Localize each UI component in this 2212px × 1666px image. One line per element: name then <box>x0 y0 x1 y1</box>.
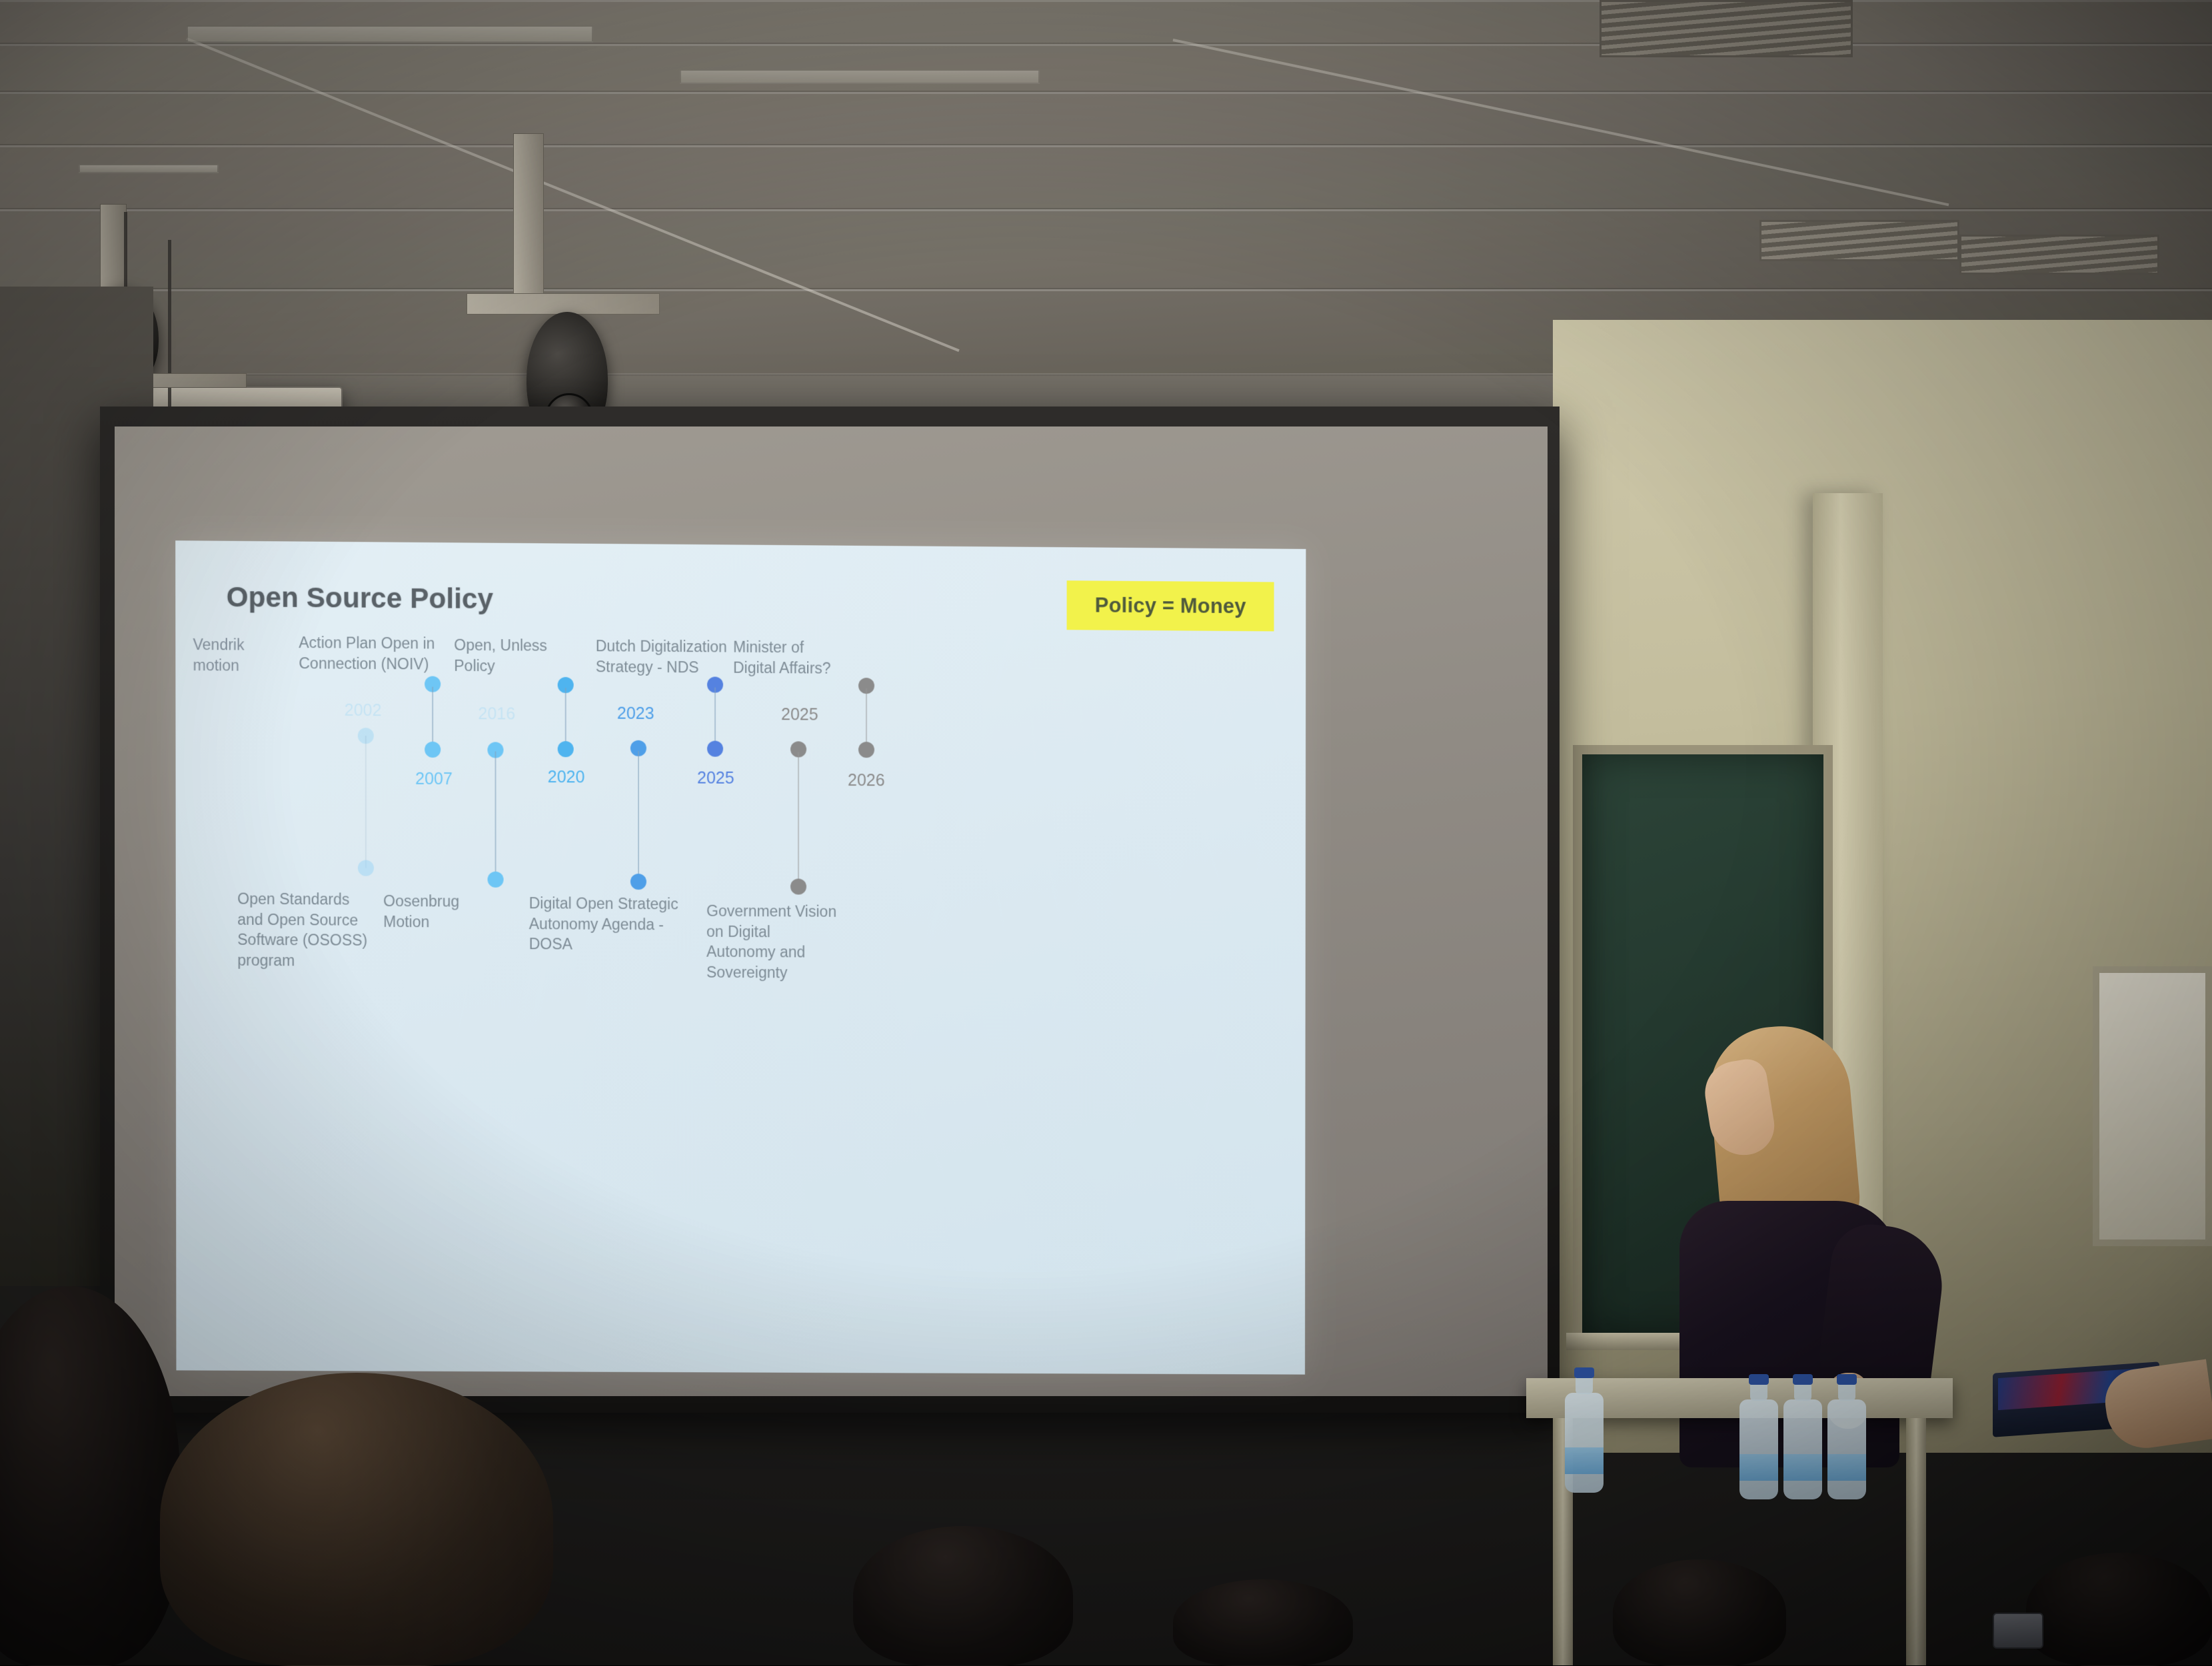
timeline-event: 2025 Government Vision on Digital Autono… <box>175 540 176 1370</box>
timeline-dot-bottom <box>707 741 723 757</box>
water-bottle <box>1739 1399 1778 1499</box>
timeline-dot-bottom <box>488 872 504 888</box>
timeline-year: 2025 <box>697 768 734 788</box>
whiteboard-far <box>2093 966 2212 1246</box>
timeline-dot-bottom <box>558 741 574 757</box>
timeline-dot-bottom <box>630 874 646 890</box>
timeline-label-above: Action Plan Open in Connection (NOIV) <box>299 632 466 674</box>
water-bottle <box>1783 1399 1822 1499</box>
lecture-room-photo: Open Source Policy Policy = Money Vendri… <box>0 0 2212 1665</box>
audience-head <box>853 1526 1073 1666</box>
timeline-stem <box>432 687 433 748</box>
water-bottle <box>1565 1393 1604 1493</box>
timeline-stem <box>365 736 367 868</box>
water-bottle <box>1827 1399 1866 1499</box>
timeline-year: 2023 <box>617 704 654 724</box>
timeline-dot-bottom <box>425 742 441 758</box>
timeline-dot-bottom <box>790 878 806 894</box>
timeline-event: Action Plan Open in Connection (NOIV) 20… <box>175 540 176 1370</box>
timeline-label-below: Open Standards and Open Source Software … <box>237 889 391 972</box>
policy-timeline: Vendrik motion 2002 Open Standards and O… <box>175 540 1306 1374</box>
timeline-year: 2026 <box>848 771 885 790</box>
bottle-label <box>1565 1447 1604 1474</box>
timeline-label-below: Digital Open Strategic Autonomy Agenda -… <box>529 893 696 955</box>
audience-head <box>160 1373 553 1666</box>
ceiling <box>0 0 2212 373</box>
timeline-stem <box>495 751 496 878</box>
timeline-event: Dutch Digitalization Strategy - NDS 2025 <box>175 540 176 1370</box>
timeline-year: 2002 <box>345 701 382 720</box>
timeline-year: 2016 <box>478 704 515 724</box>
presentation-slide: Open Source Policy Policy = Money Vendri… <box>175 540 1306 1374</box>
timeline-year: 2007 <box>415 770 453 789</box>
timeline-dot-bottom <box>858 742 874 758</box>
audience-head <box>2026 1553 2212 1666</box>
bottle-label <box>1783 1454 1822 1481</box>
timeline-stem <box>798 752 799 882</box>
ceiling-vent-icon <box>1600 0 1853 57</box>
timeline-stem <box>866 688 867 748</box>
timeline-event: 2016 Oosenbrug Motion <box>175 540 176 1370</box>
audience-head <box>1613 1559 1786 1666</box>
timeline-stem <box>714 688 716 748</box>
audience-head <box>1173 1579 1353 1666</box>
timeline-event: Vendrik motion 2002 Open Standards and O… <box>175 540 176 1370</box>
timeline-label-below: Oosenbrug Motion <box>383 891 517 932</box>
bottle-label <box>1827 1454 1866 1481</box>
timeline-label-above: Minister of Digital Affairs? <box>733 637 886 679</box>
timeline-stem <box>565 688 566 748</box>
timeline-dot-bottom <box>358 860 374 876</box>
timeline-year: 2020 <box>548 768 585 787</box>
ceiling-vent-icon <box>1959 235 2159 275</box>
ceiling-vent-icon <box>1759 220 1959 261</box>
bottle-label <box>1739 1454 1778 1481</box>
timeline-event: Minister of Digital Affairs? 2026 <box>175 540 176 1370</box>
timeline-year: 2025 <box>781 705 818 724</box>
attendee-phone <box>1993 1613 2043 1649</box>
timeline-event: 2023 Digital Open Strategic Autonomy Age… <box>175 540 176 1370</box>
timeline-label-below: Government Vision on Digital Autonomy an… <box>706 901 853 984</box>
timeline-label-above: Open, Unless Policy <box>454 635 588 677</box>
timeline-stem <box>638 751 639 879</box>
timeline-event: Open, Unless Policy 2020 <box>175 540 176 1370</box>
